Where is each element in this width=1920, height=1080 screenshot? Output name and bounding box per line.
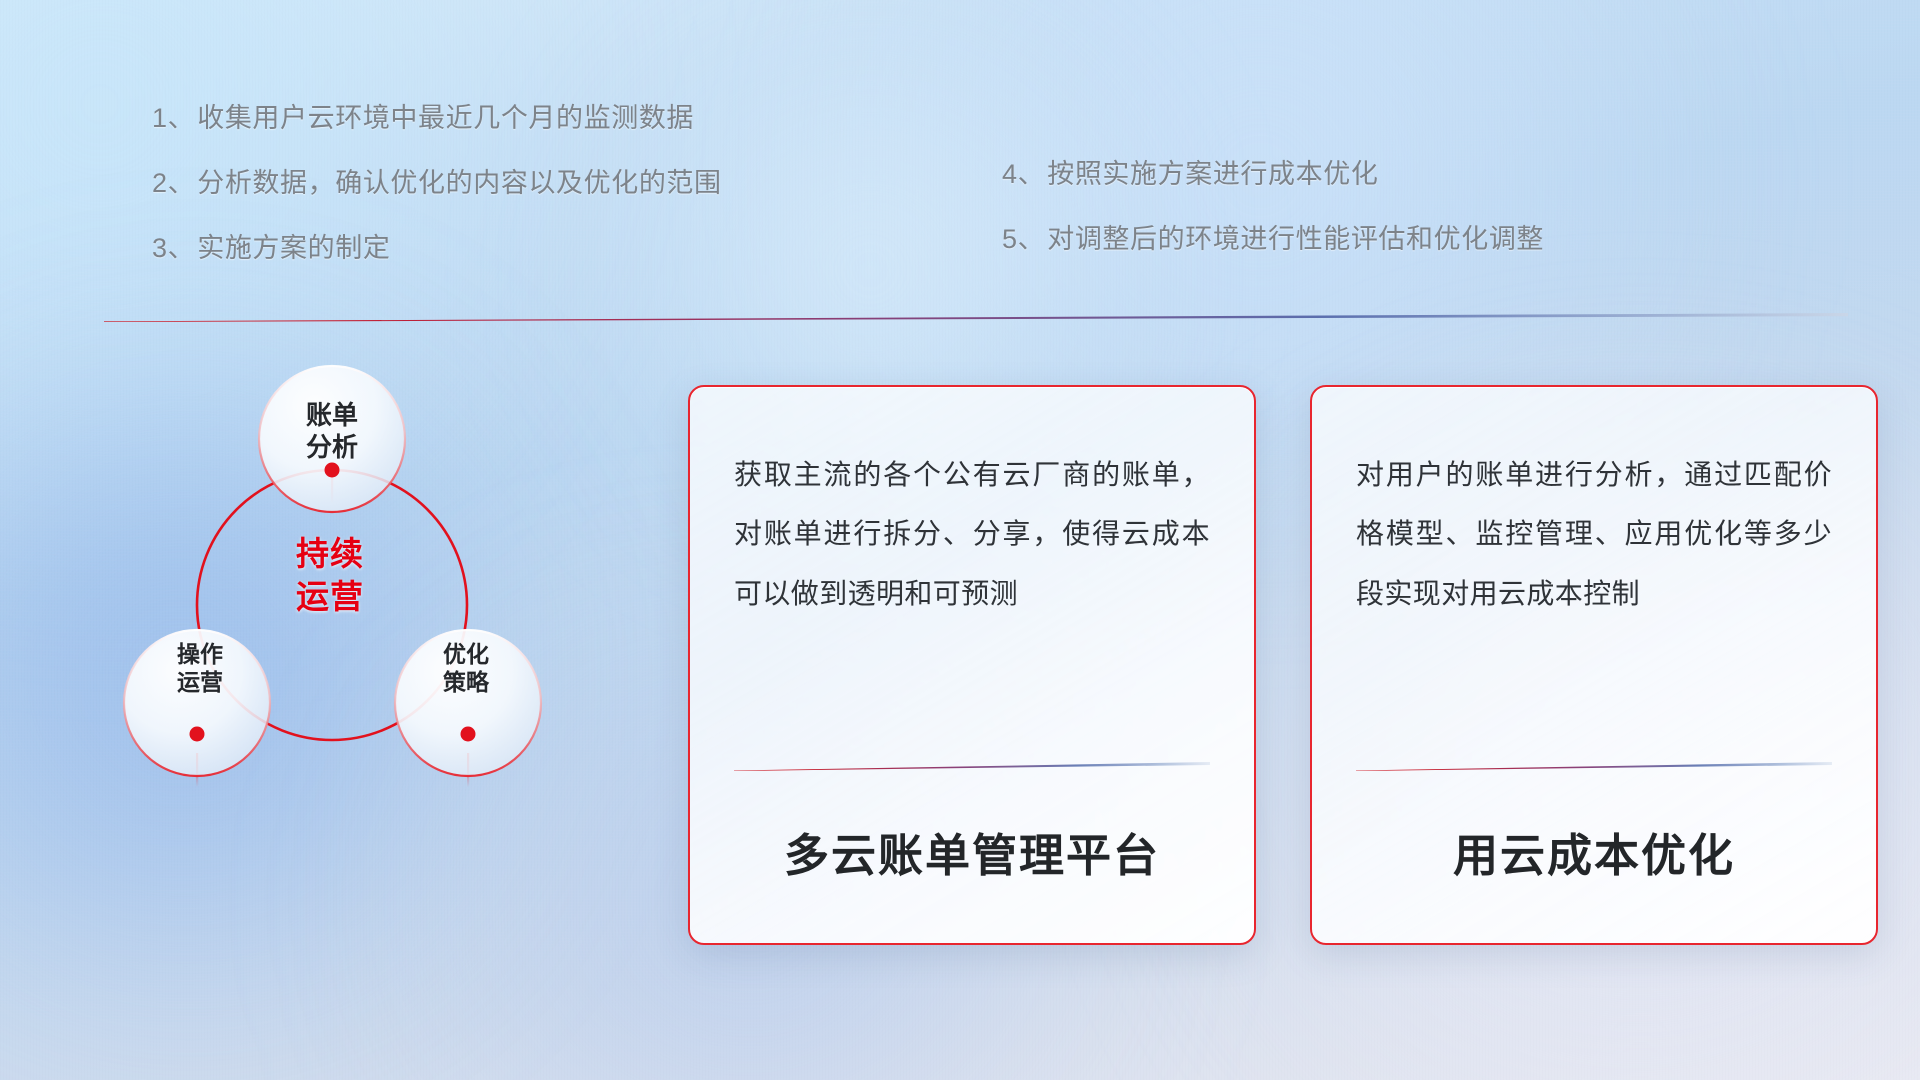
venn-center-line1: 持续	[255, 533, 405, 576]
steps-list-left: 1、 收集用户云环境中最近几个月的监测数据 2、 分析数据，确认优化的内容以及优…	[152, 96, 722, 291]
venn-node-dot-top	[325, 463, 340, 478]
venn-center-line2: 运营	[255, 576, 405, 619]
venn-node-dot-left	[190, 727, 205, 742]
feature-card-group: 获取主流的各个公有云厂商的账单，对账单进行拆分、分享，使得云成本可以做到透明和可…	[688, 385, 1878, 945]
card-divider	[734, 762, 1210, 771]
step-number: 4、	[1002, 152, 1045, 191]
venn-label-right: 优化 策略	[396, 640, 536, 696]
venn-label-right-line1: 优化	[396, 640, 536, 668]
feature-card[interactable]: 对用户的账单进行分析，通过匹配价格模型、监控管理、应用优化等多少段实现对用云成本…	[1310, 385, 1878, 945]
step-item: 4、 按照实施方案进行成本优化	[1002, 152, 1544, 191]
step-text: 收集用户云环境中最近几个月的监测数据	[197, 96, 694, 135]
venn-label-left-line2: 运营	[130, 668, 270, 696]
venn-node-dot-right	[461, 727, 476, 742]
venn-label-top-line2: 分析	[262, 432, 402, 464]
step-item: 5、 对调整后的环境进行性能评估和优化调整	[1002, 217, 1544, 256]
step-text: 分析数据，确认优化的内容以及优化的范围	[197, 161, 721, 200]
step-number: 2、	[152, 161, 195, 200]
card-body-text: 获取主流的各个公有云厂商的账单，对账单进行拆分、分享，使得云成本可以做到透明和可…	[734, 445, 1210, 623]
step-item: 3、 实施方案的制定	[152, 226, 722, 265]
steps-list-right: 4、 按照实施方案进行成本优化 5、 对调整后的环境进行性能评估和优化调整	[1002, 152, 1544, 282]
step-item: 2、 分析数据，确认优化的内容以及优化的范围	[152, 161, 722, 200]
circle-diagram: 账单 分析 操作 运营 优化 策略 持续 运营	[100, 355, 560, 925]
feature-card[interactable]: 获取主流的各个公有云厂商的账单，对账单进行拆分、分享，使得云成本可以做到透明和可…	[688, 385, 1256, 945]
venn-label-left-line1: 操作	[130, 640, 270, 668]
step-text: 按照实施方案进行成本优化	[1047, 152, 1378, 191]
venn-label-top-line1: 账单	[262, 400, 402, 432]
step-text: 实施方案的制定	[197, 226, 390, 265]
card-divider	[1356, 762, 1832, 771]
step-text: 对调整后的环境进行性能评估和优化调整	[1047, 217, 1544, 256]
card-body-text: 对用户的账单进行分析，通过匹配价格模型、监控管理、应用优化等多少段实现对用云成本…	[1356, 445, 1832, 623]
venn-label-left: 操作 运营	[130, 640, 270, 696]
step-number: 3、	[152, 226, 195, 265]
section-divider	[104, 313, 1848, 322]
step-number: 1、	[152, 96, 195, 135]
step-item: 1、 收集用户云环境中最近几个月的监测数据	[152, 96, 722, 135]
venn-label-center: 持续 运营	[255, 533, 405, 619]
card-title: 多云账单管理平台	[734, 771, 1210, 943]
card-title: 用云成本优化	[1356, 771, 1832, 943]
venn-label-right-line2: 策略	[396, 668, 536, 696]
venn-label-top: 账单 分析	[262, 400, 402, 463]
step-number: 5、	[1002, 217, 1045, 256]
